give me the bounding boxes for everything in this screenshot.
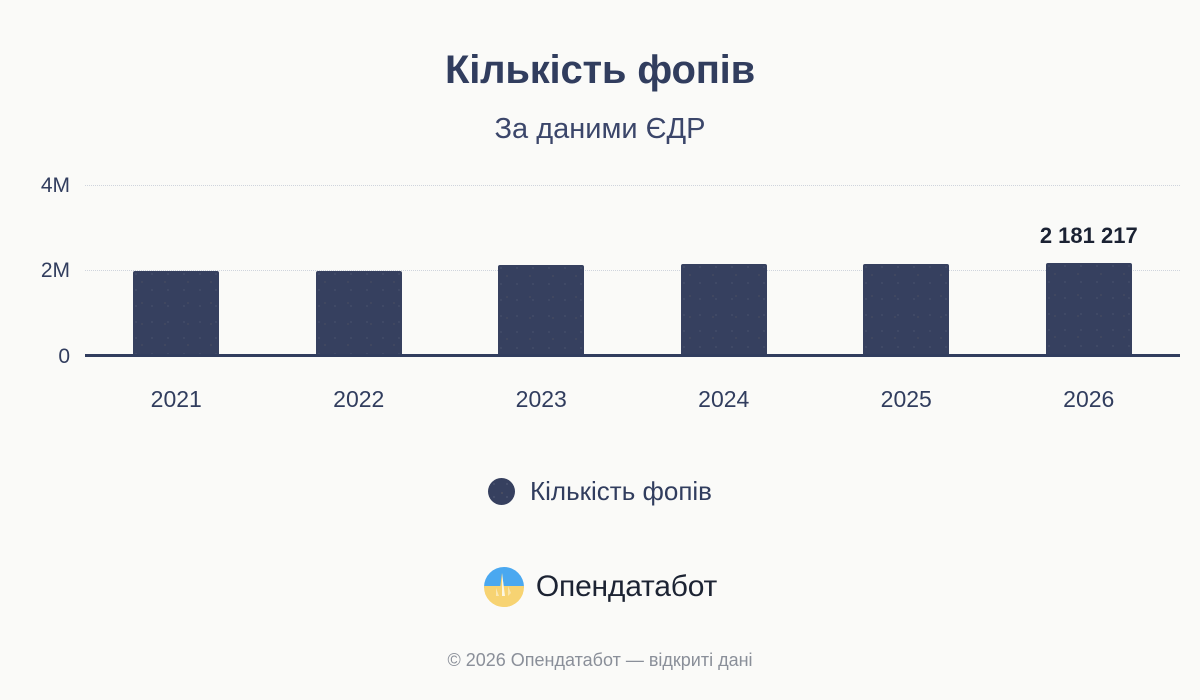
bar-series: 2 181 217 [85,180,1180,356]
chart-page: Кількість фопів За даними ЄДР 4M 2M 0 2 … [0,0,1200,700]
brand-name: Опендатабот [536,570,717,604]
x-axis-line [85,354,1180,357]
bar-slot [815,180,998,356]
x-tick-label: 2021 [85,386,268,413]
bar-slot [85,180,268,356]
y-tick-0: 0 [0,345,70,369]
x-axis-labels: 202120222023202420252026 [85,386,1180,418]
opendatabot-logo-icon [483,566,525,608]
x-tick-label: 2026 [998,386,1181,413]
x-tick-label: 2024 [633,386,816,413]
y-tick-4m: 4M [0,174,70,198]
page-title: Кількість фопів [0,48,1200,93]
x-tick-label: 2023 [450,386,633,413]
y-tick-2m: 2M [0,259,70,283]
legend-item-label: Кількість фопів [530,476,712,507]
footer-text: © 2026 Опендатабот — відкриті дані [0,650,1200,671]
bar-slot [633,180,816,356]
legend-circle-icon [488,478,515,505]
bar[interactable] [133,271,219,356]
chart-legend: Кількість фопів [0,476,1200,507]
bar-slot: 2 181 217 [998,180,1181,356]
brand-block: Опендатабот [0,566,1200,608]
bar[interactable] [498,265,584,356]
page-subtitle: За даними ЄДР [0,113,1200,146]
bar-slot [268,180,451,356]
x-tick-label: 2022 [268,386,451,413]
bar[interactable] [863,264,949,356]
bar-slot [450,180,633,356]
bar-value-label: 2 181 217 [1040,223,1138,249]
x-tick-label: 2025 [815,386,998,413]
bar[interactable] [1046,263,1132,356]
bar[interactable] [681,264,767,356]
bar[interactable] [316,271,402,356]
